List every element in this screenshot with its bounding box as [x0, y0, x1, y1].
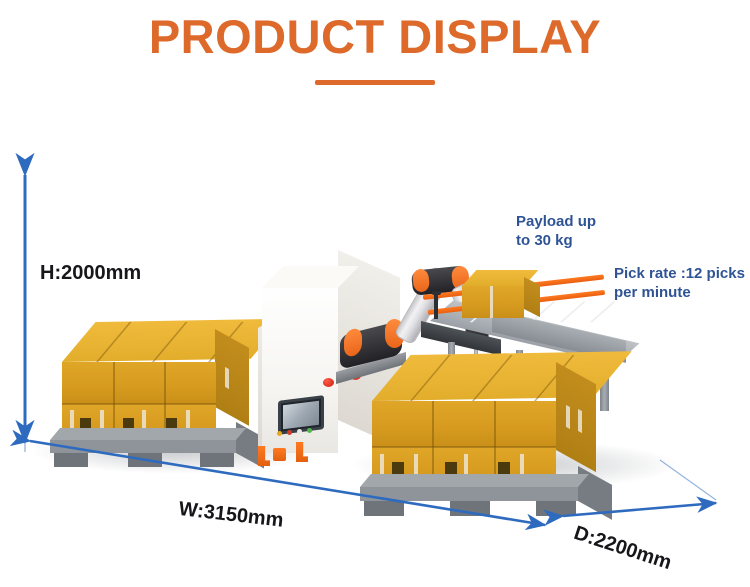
payload-annotation: Payload up to 30 kg	[516, 213, 596, 251]
depth-dimension-arrow	[563, 503, 716, 516]
width-dimension-arrow	[30, 441, 545, 525]
depth-extension-line	[660, 460, 716, 500]
height-dimension-label: H:2000mm	[40, 262, 141, 285]
product-display-figure: PRODUCT DISPLAY	[0, 0, 750, 587]
pick-rate-annotation: Pick rate :12 picks per minute	[614, 265, 745, 303]
